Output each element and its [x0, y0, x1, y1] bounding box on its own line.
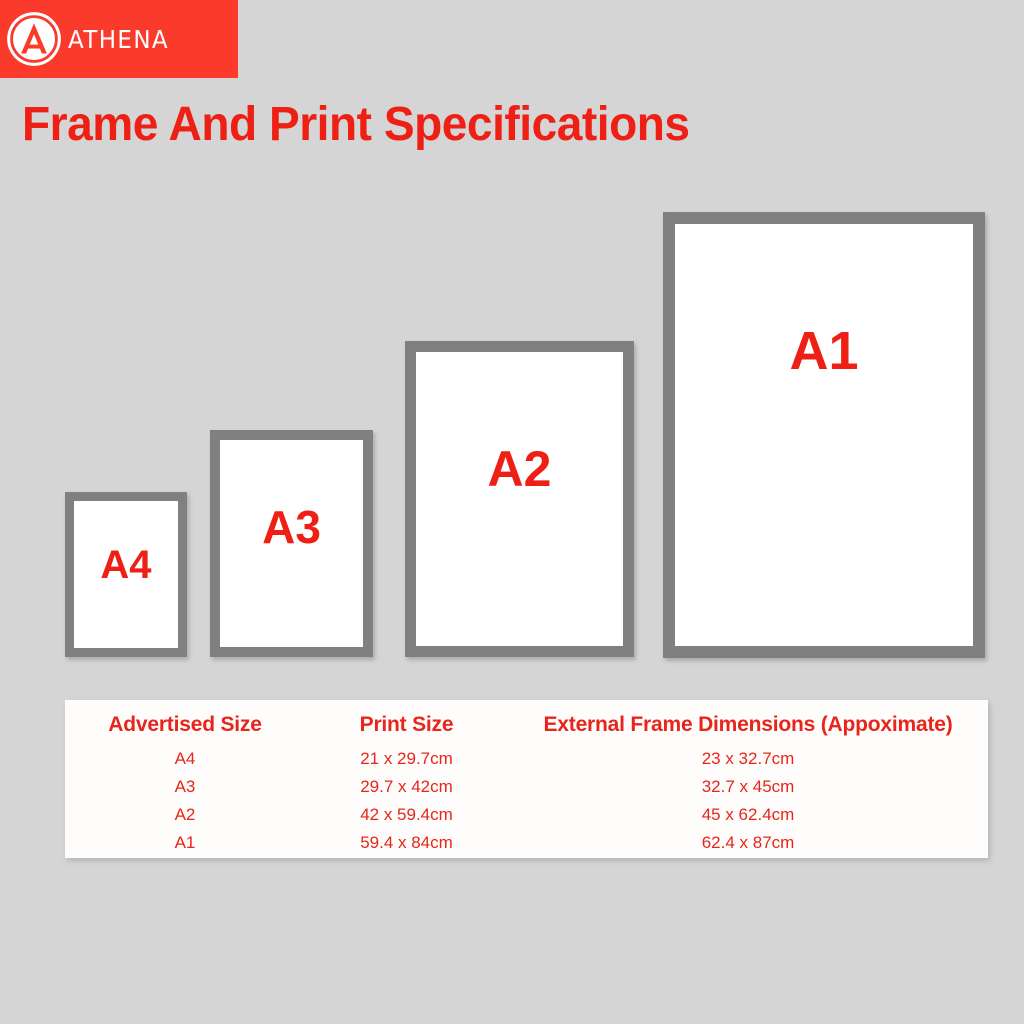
table-row: A3 29.7 x 42cm 32.7 x 45cm: [65, 773, 988, 801]
table-row: A4 21 x 29.7cm 23 x 32.7cm: [65, 745, 988, 773]
frame-sample-a1: A1: [663, 212, 985, 658]
cell-external-frame: 45 x 62.4cm: [508, 801, 988, 829]
specification-table: Advertised Size Print Size External Fram…: [65, 700, 988, 857]
cell-advertised-size: A1: [65, 829, 305, 857]
table-row: A2 42 x 59.4cm 45 x 62.4cm: [65, 801, 988, 829]
cell-external-frame: 23 x 32.7cm: [508, 745, 988, 773]
cell-print-size: 29.7 x 42cm: [305, 773, 508, 801]
frame-label-a1: A1: [675, 324, 973, 378]
frame-label-a3: A3: [220, 504, 363, 550]
column-header-print-size: Print Size: [305, 700, 508, 745]
frame-sample-a3: A3: [210, 430, 373, 657]
cell-print-size: 21 x 29.7cm: [305, 745, 508, 773]
frame-sample-a4: A4: [65, 492, 187, 657]
cell-print-size: 42 x 59.4cm: [305, 801, 508, 829]
cell-external-frame: 32.7 x 45cm: [508, 773, 988, 801]
cell-external-frame: 62.4 x 87cm: [508, 829, 988, 857]
specification-table-panel: Advertised Size Print Size External Fram…: [65, 700, 988, 858]
column-header-advertised-size: Advertised Size: [65, 700, 305, 745]
cell-print-size: 59.4 x 84cm: [305, 829, 508, 857]
cell-advertised-size: A4: [65, 745, 305, 773]
cell-advertised-size: A2: [65, 801, 305, 829]
frame-label-a4: A4: [74, 545, 178, 585]
column-header-external-frame-dimensions: External Frame Dimensions (Appoximate): [508, 700, 988, 745]
table-header-row: Advertised Size Print Size External Fram…: [65, 700, 988, 745]
frame-sample-a2: A2: [405, 341, 634, 657]
frame-size-comparison-diagram: A4 A3 A2 A1: [0, 0, 1024, 700]
table-row: A1 59.4 x 84cm 62.4 x 87cm: [65, 829, 988, 857]
frame-label-a2: A2: [416, 444, 623, 494]
cell-advertised-size: A3: [65, 773, 305, 801]
